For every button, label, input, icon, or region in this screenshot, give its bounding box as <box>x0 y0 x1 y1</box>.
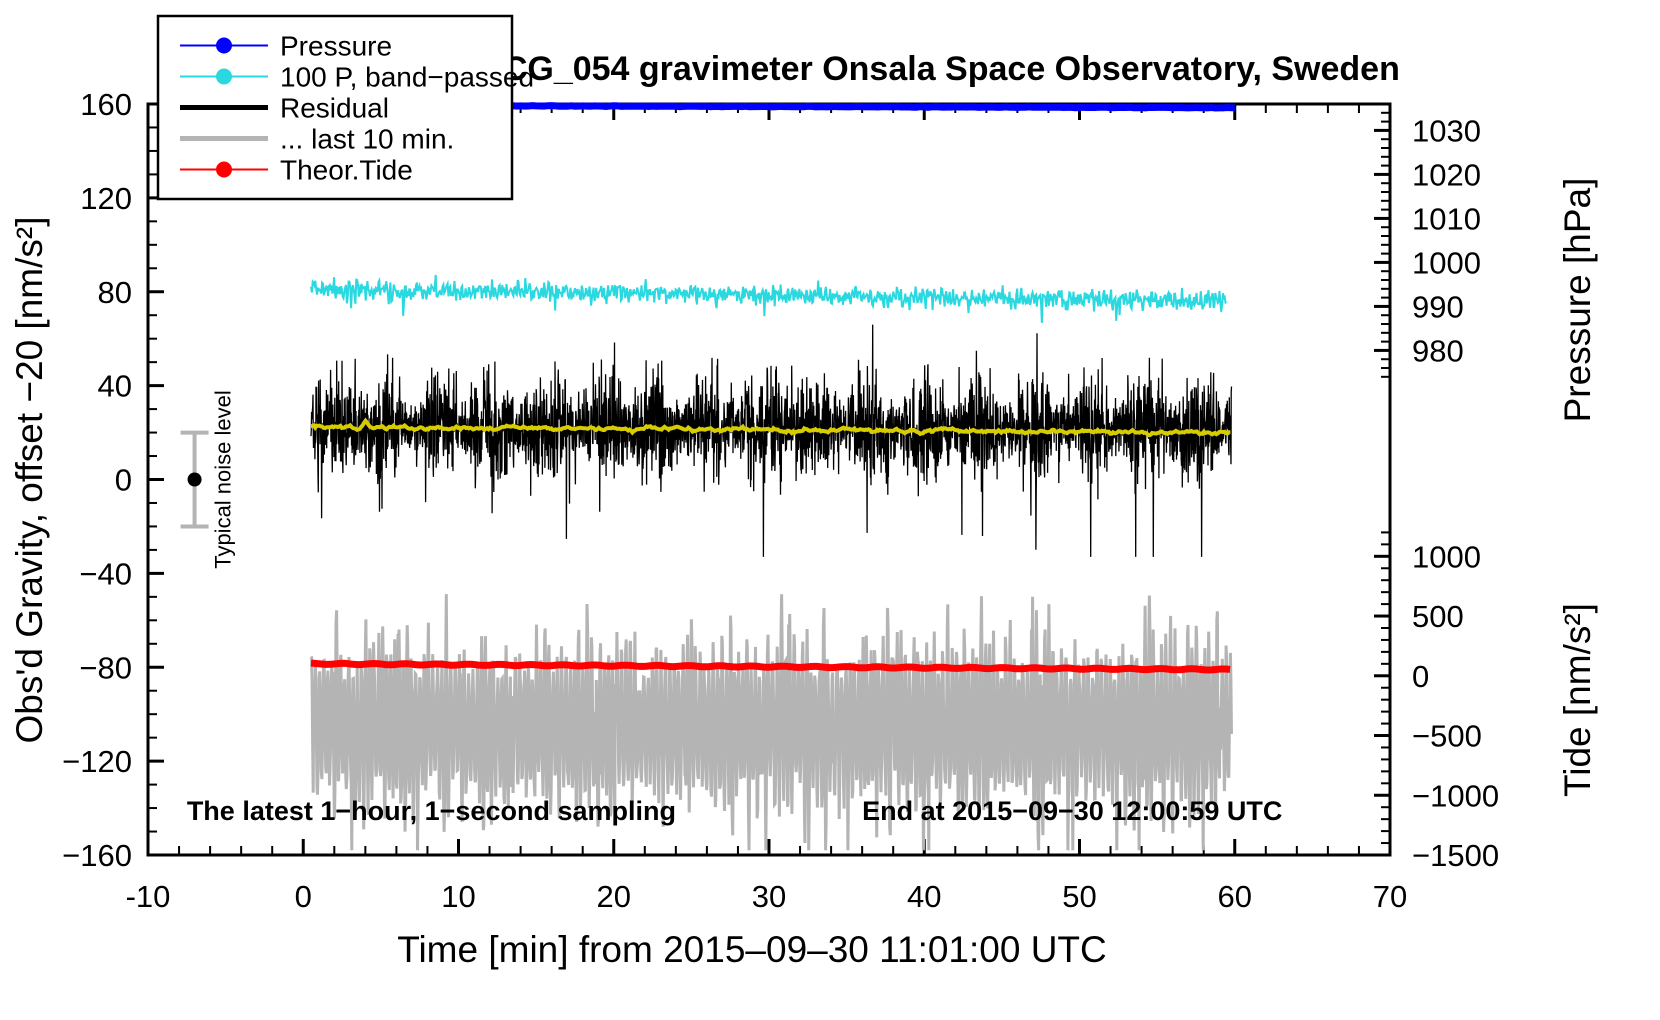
x-tick-label: 20 <box>597 879 631 914</box>
noise-bar-dot <box>188 473 202 487</box>
end-time-note: End at 2015−09−30 12:00:59 UTC <box>862 796 1282 826</box>
x-tick-label: 0 <box>295 879 312 914</box>
legend-label: Pressure <box>280 31 392 62</box>
y-tick-label-left: −160 <box>62 838 132 873</box>
x-tick-label: 40 <box>907 879 941 914</box>
y-tick-label-left: −40 <box>79 556 132 591</box>
sampling-note: The latest 1−hour, 1−second sampling <box>187 796 676 826</box>
chart-legend: Pressure100 P, band−passedResidual... la… <box>158 16 534 199</box>
y-tick-label-tide: 1000 <box>1412 539 1481 574</box>
y-tick-label-left: −120 <box>62 744 132 779</box>
y-tick-label-tide: 500 <box>1412 599 1464 634</box>
y-tick-label-pressure: 1020 <box>1412 157 1481 192</box>
y-tick-label-left: 40 <box>98 369 132 404</box>
y-tick-label-left: 80 <box>98 275 132 310</box>
legend-dot <box>216 69 232 85</box>
x-tick-label: 30 <box>752 879 786 914</box>
y-tick-label-tide: 0 <box>1412 659 1429 694</box>
x-tick-label: 10 <box>441 879 475 914</box>
y-axis-pressure-title: Pressure [hPa] <box>1557 178 1598 423</box>
x-tick-label: -10 <box>126 879 171 914</box>
y-tick-label-left: 0 <box>115 463 132 498</box>
page-title: SCG_054 gravimeter Onsala Space Observat… <box>480 50 1400 88</box>
gravimeter-chart-figure: -10010203040506070 16012080400−40−80−120… <box>0 0 1660 1020</box>
x-tick-label: 60 <box>1218 879 1252 914</box>
y-tick-label-pressure: 1010 <box>1412 201 1481 236</box>
y-tick-label-tide: −500 <box>1412 719 1482 754</box>
y-tick-label-pressure: 1000 <box>1412 245 1481 280</box>
legend-label: Residual <box>280 93 389 124</box>
y-tick-label-left: 120 <box>80 181 132 216</box>
y-axis-left-title: Obs'd Gravity, offset −20 [nm/s²] <box>9 217 50 744</box>
y-tick-label-tide: −1000 <box>1412 778 1499 813</box>
y-tick-label-pressure: 980 <box>1412 333 1464 368</box>
x-tick-label: 50 <box>1062 879 1096 914</box>
legend-dot <box>216 38 232 54</box>
legend-label: Theor.Tide <box>280 155 413 186</box>
x-axis-title: Time [min] from 2015–09–30 11:01:00 UTC <box>397 929 1107 970</box>
y-tick-label-pressure: 1030 <box>1412 113 1481 148</box>
y-tick-label-left: 160 <box>80 87 132 122</box>
y-tick-label-pressure: 990 <box>1412 289 1464 324</box>
y-tick-label-tide: −1500 <box>1412 838 1499 873</box>
legend-label: 100 P, band−passed <box>280 62 534 93</box>
y-tick-label-left: −80 <box>79 650 132 685</box>
y-axis-tide-title: Tide [nm/s²] <box>1557 603 1598 797</box>
x-tick-label: 70 <box>1373 879 1407 914</box>
legend-dot <box>216 162 232 178</box>
legend-label: ... last 10 min. <box>280 124 454 155</box>
noise-level-label: Typical noise level <box>211 390 236 569</box>
chart-canvas: -10010203040506070 16012080400−40−80−120… <box>0 0 1660 1020</box>
series-pressure <box>505 106 1235 108</box>
